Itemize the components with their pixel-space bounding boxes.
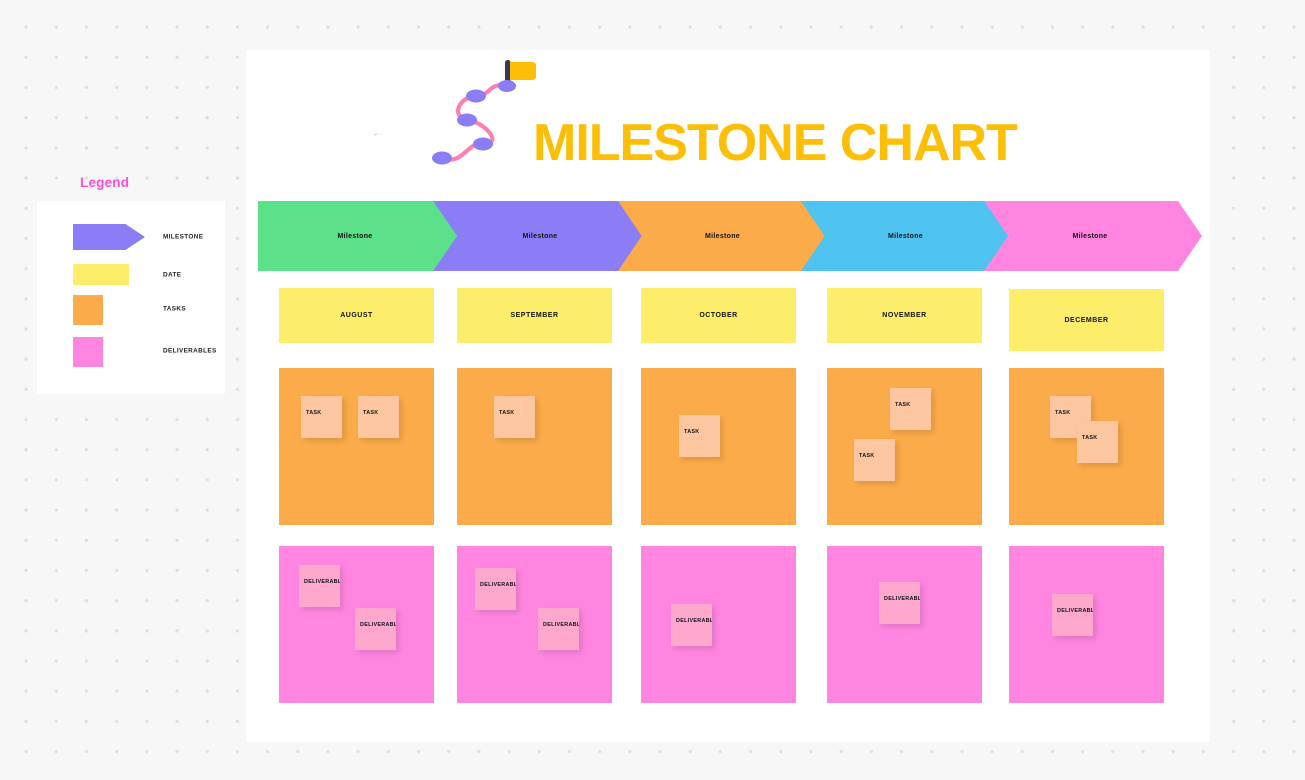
deliverable-note[interactable]: DELIVERABLE [299,565,340,607]
chart-canvas: ↵·· MILESTONE CHART Milestone Milestone … [246,50,1210,742]
deliverable-panel-3[interactable]: DELIVERABLE [641,546,796,703]
corner-mark: ↵·· [374,132,383,138]
date-card-november[interactable]: NOVEMBER [827,288,982,343]
task-panel-2[interactable]: TASK [457,368,612,525]
date-card-october[interactable]: OCTOBER [641,288,796,343]
task-note-label: TASK [1082,435,1097,441]
milestone-chevron-label: Milestone [888,233,923,240]
deliverable-note[interactable]: DELIVERABLE [538,608,579,650]
milestone-chevron-label: Milestone [338,233,373,240]
task-note[interactable]: TASK [301,396,342,438]
milestone-arrow-icon [73,224,145,250]
task-panel-1[interactable]: TASK TASK [279,368,434,525]
deliverable-note-label: DELIVERABLE [480,582,516,588]
deliverable-note[interactable]: DELIVERABLE [475,568,516,610]
task-note-label: TASK [363,410,378,416]
task-panel-4[interactable]: TASK TASK [827,368,982,525]
chart-header: ↵·· MILESTONE CHART [246,50,1210,192]
milestone-chevron-5[interactable]: Milestone [984,201,1202,271]
tasks-swatch-icon [73,295,103,325]
milestone-chevron-3[interactable]: Milestone [618,201,833,271]
legend-item-date[interactable]: DATE [37,261,225,289]
milestone-path-illustration [426,58,544,168]
task-note-label: TASK [499,410,514,416]
page-title: MILESTONE CHART [533,113,1017,173]
milestone-chevron-2[interactable]: Milestone [433,201,653,271]
milestone-chevron-label: Milestone [1073,233,1108,240]
legend-panel: MILESTONE DATE TASKS DELIVERABLES [37,201,225,394]
milestone-chevron-label: Milestone [523,233,558,240]
task-note[interactable]: TASK [358,396,399,438]
date-card-august[interactable]: AUGUST [279,288,434,343]
date-card-label: SEPTEMBER [510,312,558,319]
deliverable-panel-2[interactable]: DELIVERABLE DELIVERABLE [457,546,612,703]
date-swatch-icon [73,264,129,285]
legend-item-label: MILESTONE [163,234,203,241]
deliverable-note-label: DELIVERABLE [304,579,340,585]
milestone-chevron-label: Milestone [705,233,740,240]
milestone-banner: Milestone Milestone Milestone Milestone … [258,201,1202,271]
legend-item-label: TASKS [163,306,186,313]
task-note[interactable]: TASK [494,396,535,438]
deliverable-note-label: DELIVERABLE [676,618,712,624]
date-card-label: NOVEMBER [882,312,926,319]
deliverable-note-label: DELIVERABLE [1057,608,1093,614]
milestone-chevron-4[interactable]: Milestone [801,201,1016,271]
deliverable-panel-4[interactable]: DELIVERABLE [827,546,982,703]
task-note[interactable]: TASK [1077,421,1118,463]
deliverable-note-label: DELIVERABLE [543,622,579,628]
task-note-label: TASK [684,429,699,435]
deliverable-note[interactable]: DELIVERABLE [879,582,920,624]
deliverable-note[interactable]: DELIVERABLE [671,604,712,646]
task-panel-5[interactable]: TASK TASK [1009,368,1164,525]
task-note-label: TASK [306,410,321,416]
deliverable-panel-5[interactable]: DELIVERABLE [1009,546,1164,703]
legend-title: Legend [80,175,129,190]
date-card-september[interactable]: SEPTEMBER [457,288,612,343]
date-card-december[interactable]: DECEMBER [1009,289,1164,351]
date-card-label: AUGUST [340,312,373,319]
deliverables-swatch-icon [73,337,103,367]
date-card-label: OCTOBER [699,312,737,319]
date-card-label: DECEMBER [1064,317,1108,324]
task-panel-3[interactable]: TASK [641,368,796,525]
legend-item-deliverables[interactable]: DELIVERABLES [37,337,225,365]
deliverable-note-label: DELIVERABLE [360,622,396,628]
task-note[interactable]: TASK [890,388,931,430]
task-note-label: TASK [859,453,874,459]
task-note-label: TASK [895,402,910,408]
deliverable-note-label: DELIVERABLE [884,596,920,602]
deliverable-note[interactable]: DELIVERABLE [1052,594,1093,636]
deliverable-panel-1[interactable]: DELIVERABLE DELIVERABLE [279,546,434,703]
legend-item-milestone[interactable]: MILESTONE [37,223,225,251]
deliverable-note[interactable]: DELIVERABLE [355,608,396,650]
legend-item-tasks[interactable]: TASKS [37,295,225,323]
task-note[interactable]: TASK [854,439,895,481]
task-note[interactable]: TASK [679,415,720,457]
legend-item-label: DELIVERABLES [163,348,217,355]
task-note-label: TASK [1055,410,1070,416]
milestone-chevron-1[interactable]: Milestone [258,201,458,271]
legend-item-label: DATE [163,272,181,279]
